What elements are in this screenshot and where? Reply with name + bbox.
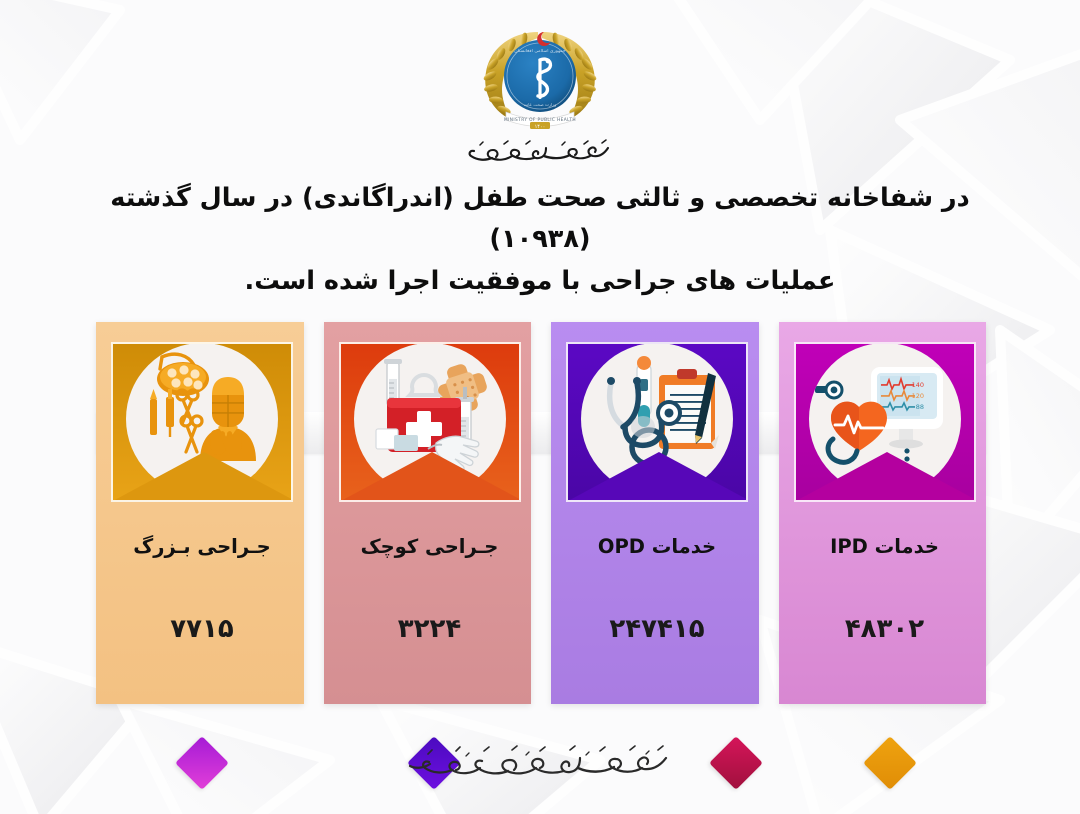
card-label-ipd: خدمات IPD [779, 535, 991, 558]
stat-card-opd[interactable]: خدمات OPD ۲۴۷۴۱۵ [551, 322, 759, 704]
page-title: در شفاخانه تخصصی و ثالثی صحت طفل (اندراگ… [70, 178, 1010, 302]
card-label-minor-surgery: جـراحی کوچک [324, 535, 536, 558]
diamond-marker-major-surgery [863, 736, 917, 790]
title-line-2: عملیات های جراحی با موفقیت اجرا شده است. [70, 261, 1010, 302]
icon-panel-ipd: 140 120 88 [794, 342, 976, 502]
svg-text:140: 140 [911, 381, 923, 389]
title-line-1: در شفاخانه تخصصی و ثالثی صحت طفل (اندراگ… [70, 178, 1010, 261]
header: جمهوری اسلامی افغانستان وزارت صحت عامه M… [0, 0, 1080, 180]
card-value-major-surgery: ۷۷۱۵ [96, 614, 308, 644]
chevron-shape [339, 446, 521, 502]
chevron-shape [794, 446, 976, 502]
svg-text:88: 88 [915, 403, 923, 411]
icon-panel-opd [566, 342, 748, 502]
card-value-opd: ۲۴۷۴۱۵ [551, 614, 763, 644]
svg-text:120: 120 [911, 392, 923, 400]
diamond-marker-minor-surgery [709, 736, 763, 790]
diamond-marker-ipd [175, 736, 229, 790]
svg-text:۱۴۰۰: ۱۴۰۰ [535, 124, 546, 130]
statistics-card-row: 140 120 88 [96, 322, 986, 704]
chevron-shape [566, 446, 748, 502]
card-value-minor-surgery: ۳۲۲۴ [324, 614, 536, 644]
card-label-major-surgery: جـراحی بـزرگ [96, 535, 308, 558]
icon-panel-major-surgery [111, 342, 293, 502]
stat-card-minor-surgery[interactable]: جـراحی کوچک ۳۲۲۴ [324, 322, 532, 704]
ministry-name-calligraphy [450, 136, 630, 170]
icon-panel-minor-surgery [339, 342, 521, 502]
card-label-opd: خدمات OPD [551, 535, 763, 558]
public-relations-directorate-signature [400, 736, 680, 794]
stat-card-major-surgery[interactable]: جـراحی بـزرگ ۷۷۱۵ [96, 322, 304, 704]
card-value-ipd: ۴۸۳۰۲ [779, 614, 991, 644]
chevron-shape [111, 446, 293, 502]
ministry-of-public-health-emblem: جمهوری اسلامی افغانستان وزارت صحت عامه M… [460, 14, 620, 134]
svg-text:وزارت صحت عامه: وزارت صحت عامه [524, 102, 556, 107]
svg-text:جمهوری اسلامی افغانستان: جمهوری اسلامی افغانستان [514, 49, 566, 54]
stat-card-ipd[interactable]: 140 120 88 [779, 322, 987, 704]
